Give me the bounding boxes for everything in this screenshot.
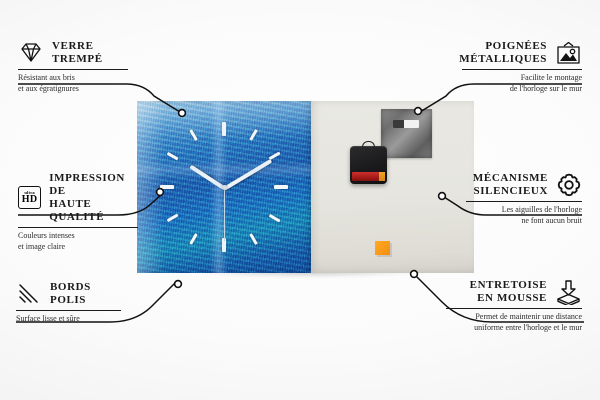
hand-hub xyxy=(222,185,227,190)
tick-mark xyxy=(167,152,179,161)
feature-description: Permet de maintenir une distance uniform… xyxy=(446,312,582,334)
title-rule xyxy=(466,201,582,202)
feature-mecanisme-silencieux[interactable]: MÉCANISME SILENCIEUX Les aiguilles de l'… xyxy=(466,172,582,227)
gear-icon xyxy=(556,172,582,197)
feature-title: BORDS POLIS xyxy=(50,281,91,307)
minute-hand xyxy=(223,158,272,189)
tick-mark xyxy=(167,214,179,223)
movement-hanger-hook xyxy=(362,141,375,148)
metal-hanger-plate xyxy=(381,109,432,158)
feature-verre-trempe[interactable]: VERRE TREMPÉ Résistant aux bris et aux é… xyxy=(18,40,128,95)
quartz-movement xyxy=(350,146,387,184)
ultra-hd-icon-large-text: HD xyxy=(22,195,38,205)
feature-title: MÉCANISME SILENCIEUX xyxy=(473,172,548,198)
feature-entretoise-en-mousse[interactable]: ENTRETOISE EN MOUSSE Permet de maintenir… xyxy=(446,279,582,334)
tick-mark xyxy=(189,233,198,245)
tick-mark xyxy=(189,129,198,141)
feature-title: VERRE TREMPÉ xyxy=(52,40,103,66)
foam-spacer-arrow-icon xyxy=(555,279,582,305)
clock-face-front xyxy=(137,101,311,273)
title-rule xyxy=(18,69,128,70)
diamond-icon xyxy=(18,41,44,65)
battery-positive-cap xyxy=(379,172,385,181)
feature-poignees-metalliques[interactable]: POIGNÉES MÉTALLIQUES Facilite le montage… xyxy=(462,40,582,95)
feature-description: Surface lisse et sûre xyxy=(16,314,121,325)
feature-bords-polis[interactable]: BORDS POLIS Surface lisse et sûre xyxy=(16,281,121,325)
title-rule xyxy=(18,227,138,228)
tick-mark xyxy=(274,185,288,189)
infographic-stage: VERRE TREMPÉ Résistant aux bris et aux é… xyxy=(0,0,600,400)
product-image xyxy=(137,101,474,273)
picture-frame-hanger-icon xyxy=(555,41,582,65)
title-rule xyxy=(462,69,582,70)
feature-description: Les aiguilles de l'horloge ne font aucun… xyxy=(466,205,582,227)
tick-mark xyxy=(222,238,226,252)
clock-back xyxy=(311,101,474,273)
feature-impression-hd[interactable]: ultra HD IMPRESSION DE HAUTE QUALITÉ Cou… xyxy=(18,172,138,253)
feature-title: ENTRETOISE EN MOUSSE xyxy=(470,279,547,305)
ultra-hd-icon: ultra HD xyxy=(18,186,41,209)
tick-mark xyxy=(160,185,174,189)
foam-spacer xyxy=(375,241,390,255)
polished-edge-icon xyxy=(16,282,42,306)
tick-mark xyxy=(269,152,281,161)
title-rule xyxy=(446,308,582,309)
hour-hand xyxy=(189,165,225,190)
second-hand xyxy=(224,187,226,241)
hanger-keyhole-slot xyxy=(393,120,419,128)
tick-mark xyxy=(249,233,258,245)
feature-title: POIGNÉES MÉTALLIQUES xyxy=(459,40,547,66)
feature-description: Résistant aux bris et aux égratignures xyxy=(18,73,128,95)
battery xyxy=(352,172,384,181)
tick-mark xyxy=(269,214,281,223)
tick-mark xyxy=(249,129,258,141)
feature-description: Facilite le montage de l'horloge sur le … xyxy=(462,73,582,95)
tick-mark xyxy=(222,122,226,136)
title-rule xyxy=(16,310,121,311)
feature-description: Couleurs intenses et image claire xyxy=(18,231,138,253)
feature-title: IMPRESSION DE HAUTE QUALITÉ xyxy=(49,172,138,224)
